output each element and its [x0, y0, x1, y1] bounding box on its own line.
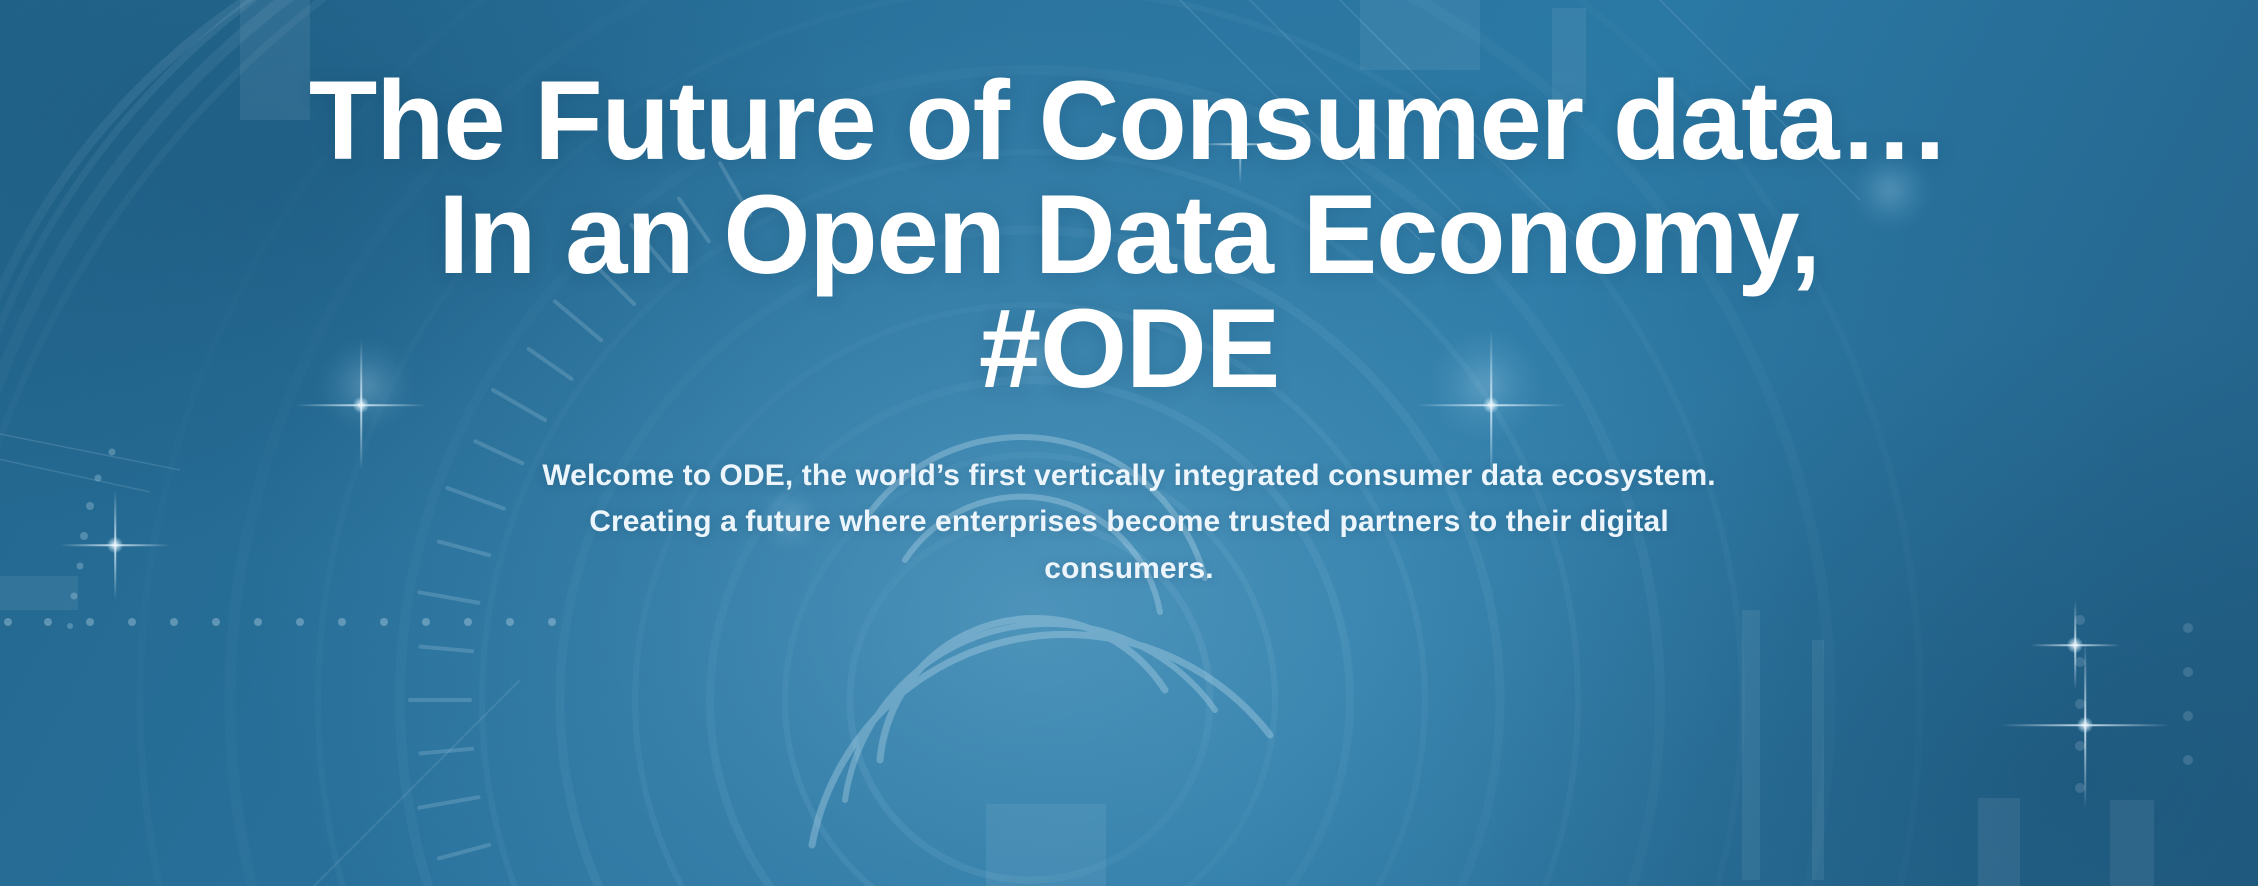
headline-line-3: #ODE	[0, 292, 2258, 406]
hero-subtitle: Welcome to ODE, the world’s first vertic…	[539, 453, 1719, 593]
page-title: The Future of Consumer data… In an Open …	[0, 64, 2258, 407]
hero-banner: The Future of Consumer data… In an Open …	[0, 0, 2258, 886]
headline-line-1: The Future of Consumer data…	[0, 64, 2258, 178]
headline-line-2: In an Open Data Economy,	[0, 178, 2258, 292]
hero-content: The Future of Consumer data… In an Open …	[0, 0, 2258, 886]
